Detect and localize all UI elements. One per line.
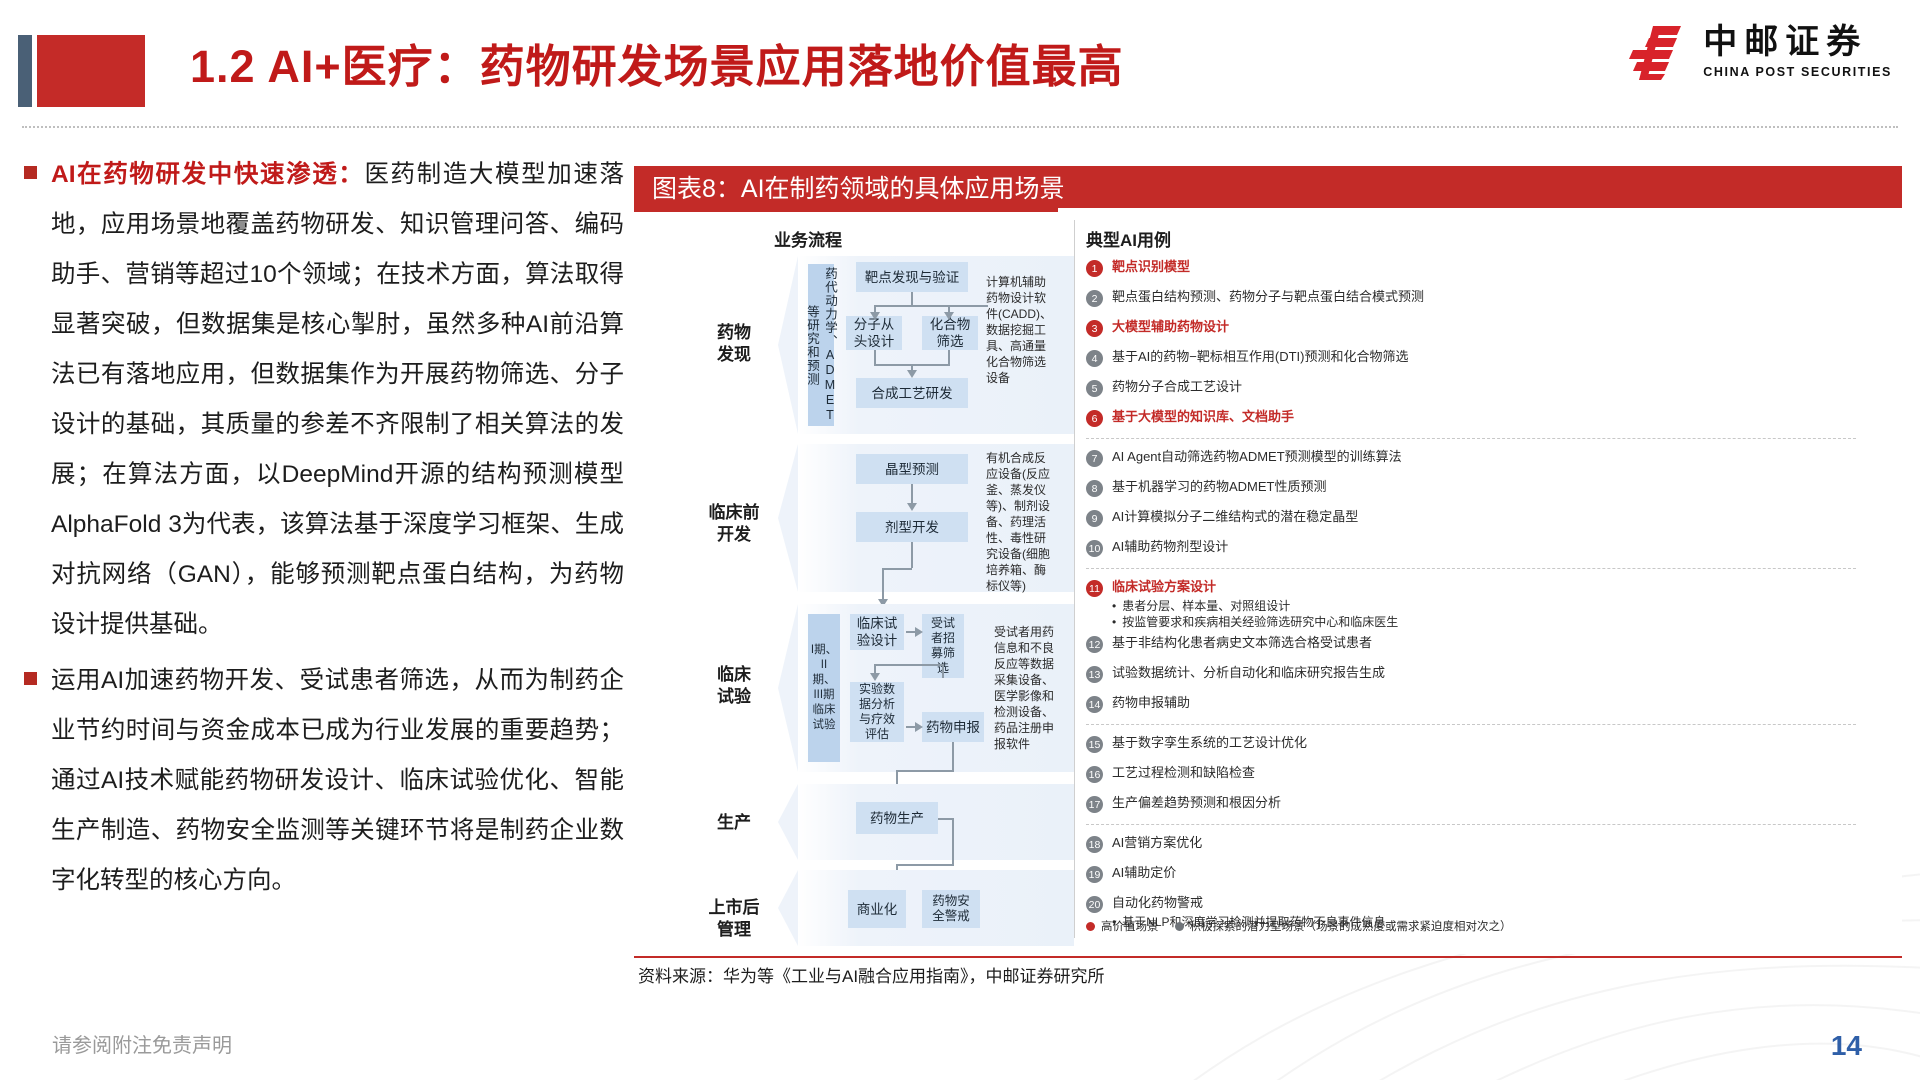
- flow-box-trial-design: 临床试验设计: [850, 614, 904, 650]
- use-case-item: 16工艺过程检测和缺陷检查: [1086, 764, 1886, 783]
- figure-title: 图表8：AI在制药领域的具体应用场景: [634, 166, 1902, 208]
- use-case-label: 基于AI的药物−靶标相互作用(DTI)预测和化合物筛选: [1112, 348, 1408, 366]
- use-case-sub-item: 患者分层、样本量、对照组设计: [1112, 598, 1398, 614]
- legend-dot-red-icon: [1086, 922, 1095, 931]
- use-case-group-divider: [1086, 824, 1856, 825]
- use-case-item: 15基于数字孪生系统的工艺设计优化: [1086, 734, 1886, 753]
- arrow-line: [952, 742, 954, 770]
- use-case-number-badge: 18: [1086, 836, 1103, 853]
- china-post-logo-icon: [1627, 24, 1689, 80]
- use-case-item: 1靶点识别模型: [1086, 258, 1886, 277]
- use-case-item: 18AI营销方案优化: [1086, 834, 1886, 853]
- use-case-item: 2靶点蛋白结构预测、药物分子与靶点蛋白结合模式预测: [1086, 288, 1886, 307]
- use-case-number-badge: 1: [1086, 260, 1103, 277]
- use-case-number-badge: 16: [1086, 766, 1103, 783]
- use-case-group-divider: [1086, 568, 1856, 569]
- use-case-item: 17生产偏差趋势预测和根因分析: [1086, 794, 1886, 813]
- page-header: 1.2 AI+医疗：药物研发场景应用落地价值最高 中邮证券 CHINA POST…: [0, 0, 1920, 120]
- wedge-clinical-trial: [778, 604, 798, 772]
- header-blue-bar: [18, 35, 32, 107]
- equipment-text-preclinical: 有机合成反应设备(反应釜、蒸发仪等)、制剂设备、药理活性、毒性研究设备(细胞培养…: [986, 450, 1072, 594]
- arrow-line: [874, 350, 876, 364]
- arrow-head-icon: [907, 370, 917, 378]
- brand-logo: 中邮证券 CHINA POST SECURITIES: [1627, 24, 1892, 80]
- bullet-item-2: 运用AI加速药物开发、受试患者筛选，从而为制药企业节约时间与资金成本已成为行业发…: [24, 656, 624, 906]
- use-case-number-badge: 11: [1086, 580, 1103, 597]
- use-case-item: 9AI计算模拟分子二维结构式的潜在稳定晶型: [1086, 508, 1886, 527]
- flow-box-data-analysis: 实验数据分析与疗效评估: [850, 682, 904, 742]
- bullet-item-1: AI在药物研发中快速渗透：医药制造大模型加速落地，应用场景地覆盖药物研发、知识管…: [24, 150, 624, 650]
- arrow-line: [942, 664, 944, 678]
- flow-box-crystal-prediction: 晶型预测: [856, 454, 968, 484]
- column-header-process: 业务流程: [774, 226, 842, 251]
- use-case-label: 大模型辅助药物设计: [1112, 318, 1229, 336]
- bullet-square-icon: [24, 166, 37, 179]
- flow-box-drug-application: 药物申报: [922, 712, 984, 742]
- flow-box-commercialization: 商业化: [848, 890, 906, 928]
- use-case-label: 药物申报辅助: [1112, 694, 1190, 712]
- figure-source: 资料来源：华为等《工业与AI融合应用指南》，中邮证券研究所: [634, 962, 1105, 987]
- use-case-sub-item: 按监管要求和疾病相关经验筛选研究中心和临床医生: [1112, 614, 1398, 630]
- use-case-number-badge: 15: [1086, 736, 1103, 753]
- use-case-label: AI辅助定价: [1112, 864, 1176, 882]
- use-case-label: AI营销方案优化: [1112, 834, 1202, 852]
- bullet-text-2: 运用AI加速药物开发、受试患者筛选，从而为制药企业节约时间与资金成本已成为行业发…: [51, 656, 624, 906]
- use-case-item: 6基于大模型的知识库、文档助手: [1086, 408, 1886, 427]
- use-case-label: 药物分子合成工艺设计: [1112, 378, 1242, 396]
- figure-panel: 图表8：AI在制药领域的具体应用场景 业务流程 典型AI用例 药物发现 药代动力…: [634, 166, 1902, 996]
- column-header-usecases: 典型AI用例: [1086, 226, 1171, 251]
- figure-vertical-divider: [1074, 220, 1075, 938]
- use-case-item: 3大模型辅助药物设计: [1086, 318, 1886, 337]
- use-case-number-badge: 5: [1086, 380, 1103, 397]
- arrow-head-icon: [944, 312, 954, 320]
- stage-label-drug-discovery: 药物发现: [694, 322, 774, 366]
- arrow-line: [882, 568, 884, 600]
- arrow-line: [874, 305, 988, 307]
- logo-chinese-text: 中邮证券: [1703, 25, 1892, 59]
- stage-side-label-admet: 药代动力学、ADMET等研究和预测: [808, 264, 834, 426]
- use-case-number-badge: 12: [1086, 636, 1103, 653]
- flow-box-synthesis-process: 合成工艺研发: [856, 378, 968, 408]
- use-case-number-badge: 20: [1086, 896, 1103, 913]
- wedge-drug-discovery: [778, 256, 798, 434]
- use-case-item: 5药物分子合成工艺设计: [1086, 378, 1886, 397]
- use-case-number-badge: 10: [1086, 540, 1103, 557]
- arrow-line: [896, 770, 954, 772]
- legend-label-potential: 积极探索的潜力型场景（场景的成熟度或需求紧迫度相对次之）: [1190, 918, 1512, 934]
- use-case-label: 生产偏差趋势预测和根因分析: [1112, 794, 1281, 812]
- use-case-number-badge: 6: [1086, 410, 1103, 427]
- use-case-number-badge: 7: [1086, 450, 1103, 467]
- arrow-line: [938, 818, 954, 820]
- use-case-item: 11临床试验方案设计患者分层、样本量、对照组设计按监管要求和疾病相关经验筛选研究…: [1086, 578, 1886, 630]
- arrow-line: [911, 484, 913, 504]
- use-case-label: 靶点蛋白结构预测、药物分子与靶点蛋白结合模式预测: [1112, 288, 1424, 306]
- flow-box-drug-production: 药物生产: [856, 802, 938, 834]
- use-case-item: 14药物申报辅助: [1086, 694, 1886, 713]
- flow-box-pharmacovigilance: 药物安全警戒: [922, 890, 980, 928]
- use-case-number-badge: 14: [1086, 696, 1103, 713]
- use-case-item: 7AI Agent自动筛选药物ADMET预测模型的训练算法: [1086, 448, 1886, 467]
- flow-box-compound-screening: 化合物筛选: [922, 316, 978, 350]
- use-case-label: 试验数据统计、分析自动化和临床研究报告生成: [1112, 664, 1385, 682]
- bullet-body-1: 医药制造大模型加速落地，应用场景地覆盖药物研发、知识管理问答、编码助手、营销等超…: [51, 161, 624, 638]
- use-case-label: 基于数字孪生系统的工艺设计优化: [1112, 734, 1307, 752]
- arrow-line: [874, 664, 944, 666]
- arrow-line: [948, 350, 950, 364]
- stage-side-label-phases: I期、II期、III期临床试验: [808, 614, 840, 762]
- use-case-group-divider: [1086, 438, 1856, 439]
- arrow-head-icon: [915, 722, 923, 732]
- use-case-item: 8基于机器学习的药物ADMET性质预测: [1086, 478, 1886, 497]
- bullet-body-2: 运用AI加速药物开发、受试患者筛选，从而为制药企业节约时间与资金成本已成为行业发…: [51, 667, 624, 894]
- use-case-label: 基于非结构化患者病史文本筛选合格受试患者: [1112, 634, 1372, 652]
- use-case-item: 13试验数据统计、分析自动化和临床研究报告生成: [1086, 664, 1886, 683]
- arrow-head-icon: [870, 312, 880, 320]
- flow-box-de-novo-design: 分子从头设计: [846, 316, 902, 350]
- stage-label-production: 生产: [694, 812, 774, 834]
- header-red-bar: [37, 35, 145, 107]
- page-title: 1.2 AI+医疗：药物研发场景应用落地价值最高: [190, 30, 1124, 95]
- left-text-column: AI在药物研发中快速渗透：医药制造大模型加速落地，应用场景地覆盖药物研发、知识管…: [24, 150, 624, 912]
- use-case-number-badge: 3: [1086, 320, 1103, 337]
- flow-box-target-discovery: 靶点发现与验证: [856, 262, 968, 292]
- use-case-label: AI计算模拟分子二维结构式的潜在稳定晶型: [1112, 508, 1358, 526]
- stage-label-post-market: 上市后管理: [686, 897, 782, 941]
- use-case-label: 工艺过程检测和缺陷检查: [1112, 764, 1255, 782]
- use-case-number-badge: 4: [1086, 350, 1103, 367]
- logo-english-text: CHINA POST SECURITIES: [1703, 66, 1892, 79]
- use-case-label: 基于机器学习的药物ADMET性质预测: [1112, 478, 1327, 496]
- use-case-number-badge: 13: [1086, 666, 1103, 683]
- use-case-number-badge: 17: [1086, 796, 1103, 813]
- header-divider: [22, 126, 1898, 128]
- legend-label-high-value: 高价值场景: [1101, 918, 1159, 934]
- figure-body: 业务流程 典型AI用例 药物发现 药代动力学、ADMET等研究和预测 靶点发现与…: [634, 212, 1902, 954]
- use-case-item: 4基于AI的药物−靶标相互作用(DTI)预测和化合物筛选: [1086, 348, 1886, 367]
- use-case-label: AI Agent自动筛选药物ADMET预测模型的训练算法: [1112, 448, 1402, 466]
- bullet-lead-1: AI在药物研发中快速渗透：: [51, 161, 364, 188]
- arrow-line: [952, 818, 954, 864]
- bullet-square-icon: [24, 672, 37, 685]
- bullet-text-1: AI在药物研发中快速渗透：医药制造大模型加速落地，应用场景地覆盖药物研发、知识管…: [51, 150, 624, 650]
- footer-disclaimer: 请参阅附注免责声明: [52, 1029, 232, 1058]
- arrow-line: [896, 864, 954, 866]
- legend-item-high-value: 高价值场景: [1086, 918, 1159, 934]
- use-case-label: 基于大模型的知识库、文档助手: [1112, 408, 1294, 426]
- page-number: 14: [1831, 1030, 1862, 1062]
- legend-dot-gray-icon: [1175, 922, 1184, 931]
- use-case-group-divider: [1086, 724, 1856, 725]
- use-case-list: 1靶点识别模型2靶点蛋白结构预测、药物分子与靶点蛋白结合模式预测3大模型辅助药物…: [1086, 258, 1886, 934]
- stage-label-clinical-trial: 临床试验: [694, 664, 774, 708]
- arrow-line: [911, 292, 913, 306]
- use-case-label: 靶点识别模型: [1112, 258, 1190, 276]
- use-case-item: 19AI辅助定价: [1086, 864, 1886, 883]
- wedge-production: [778, 784, 798, 860]
- flow-box-formulation-development: 剂型开发: [856, 512, 968, 542]
- use-case-sublist: 患者分层、样本量、对照组设计按监管要求和疾病相关经验筛选研究中心和临床医生: [1112, 598, 1398, 630]
- use-case-number-badge: 8: [1086, 480, 1103, 497]
- arrow-head-icon: [870, 673, 880, 681]
- use-case-label: 临床试验方案设计: [1112, 578, 1398, 596]
- use-case-number-badge: 9: [1086, 510, 1103, 527]
- equipment-text-discovery: 计算机辅助药物设计软件(CADD)、数据挖掘工具、高通量化合物筛选设备: [986, 274, 1070, 386]
- use-case-item: 12基于非结构化患者病史文本筛选合格受试患者: [1086, 634, 1886, 653]
- arrow-head-icon: [915, 627, 923, 637]
- arrow-line: [882, 568, 912, 570]
- use-case-label: 自动化药物警戒: [1112, 894, 1386, 912]
- arrow-line: [911, 542, 913, 568]
- figure-bottom-rule: [634, 956, 1902, 958]
- use-case-number-badge: 19: [1086, 866, 1103, 883]
- equipment-text-clinical: 受试者用药信息和不良反应等数据采集设备、医学影像和检测设备、药品注册申报软件: [994, 624, 1074, 752]
- figure-legend: 高价值场景 积极探索的潜力型场景（场景的成熟度或需求紧迫度相对次之）: [1086, 918, 1512, 934]
- use-case-label: AI辅助药物剂型设计: [1112, 538, 1228, 556]
- stage-label-preclinical: 临床前开发: [686, 502, 782, 546]
- arrow-head-icon: [907, 503, 917, 511]
- use-case-item: 10AI辅助药物剂型设计: [1086, 538, 1886, 557]
- legend-item-potential: 积极探索的潜力型场景（场景的成熟度或需求紧迫度相对次之）: [1175, 918, 1512, 934]
- use-case-number-badge: 2: [1086, 290, 1103, 307]
